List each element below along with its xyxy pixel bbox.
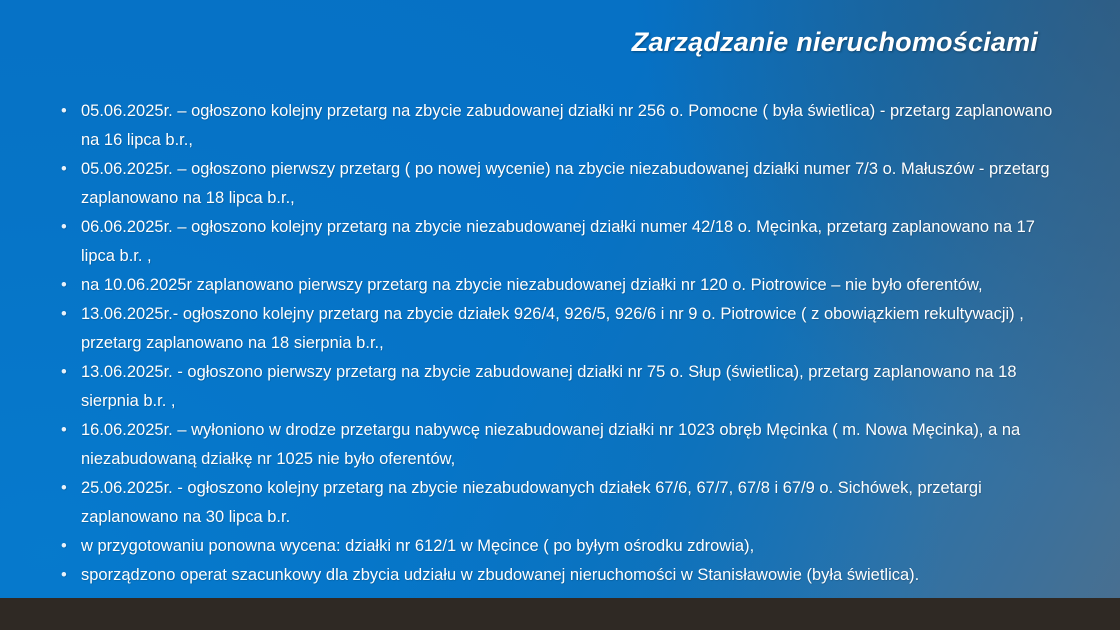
list-item-text: 13.06.2025r. - ogłoszono pierwszy przeta… [81, 358, 1064, 416]
list-item-text: 25.06.2025r. - ogłoszono kolejny przetar… [81, 474, 1064, 532]
bullet-icon: • [61, 532, 75, 561]
list-item-text: 06.06.2025r. – ogłoszono kolejny przetar… [81, 213, 1064, 271]
list-item: • na 10.06.2025r zaplanowano pierwszy pr… [56, 271, 1064, 300]
list-item-text: na 10.06.2025r zaplanowano pierwszy prze… [81, 271, 1064, 300]
bullet-icon: • [61, 300, 75, 329]
list-item: • 05.06.2025r. – ogłoszono kolejny przet… [56, 97, 1064, 155]
bullet-icon: • [61, 358, 75, 387]
presentation-slide: Zarządzanie nieruchomościami • 05.06.202… [0, 0, 1120, 630]
list-item: • w przygotowaniu ponowna wycena: działk… [56, 532, 1064, 561]
bullet-list: • 05.06.2025r. – ogłoszono kolejny przet… [56, 97, 1064, 590]
slide-title: Zarządzanie nieruchomościami [632, 27, 1038, 58]
list-item: • 25.06.2025r. - ogłoszono kolejny przet… [56, 474, 1064, 532]
list-item-text: 13.06.2025r.- ogłoszono kolejny przetarg… [81, 300, 1064, 358]
list-item-text: 16.06.2025r. – wyłoniono w drodze przeta… [81, 416, 1064, 474]
list-item: • sporządzono operat szacunkowy dla zbyc… [56, 561, 1064, 590]
bullet-icon: • [61, 561, 75, 590]
list-item-text: sporządzono operat szacunkowy dla zbycia… [81, 561, 1064, 590]
list-item: • 05.06.2025r. – ogłoszono pierwszy prze… [56, 155, 1064, 213]
list-item-text: w przygotowaniu ponowna wycena: działki … [81, 532, 1064, 561]
bullet-icon: • [61, 155, 75, 184]
list-item-text: 05.06.2025r. – ogłoszono pierwszy przeta… [81, 155, 1064, 213]
bullet-icon: • [61, 416, 75, 445]
list-item: • 13.06.2025r.- ogłoszono kolejny przeta… [56, 300, 1064, 358]
bullet-icon: • [61, 474, 75, 503]
list-item: • 16.06.2025r. – wyłoniono w drodze prze… [56, 416, 1064, 474]
list-item-text: 05.06.2025r. – ogłoszono kolejny przetar… [81, 97, 1064, 155]
footer-bar [0, 598, 1120, 630]
bullet-icon: • [61, 271, 75, 300]
list-item: • 13.06.2025r. - ogłoszono pierwszy prze… [56, 358, 1064, 416]
bullet-icon: • [61, 213, 75, 242]
bullet-icon: • [61, 97, 75, 126]
list-item: • 06.06.2025r. – ogłoszono kolejny przet… [56, 213, 1064, 271]
